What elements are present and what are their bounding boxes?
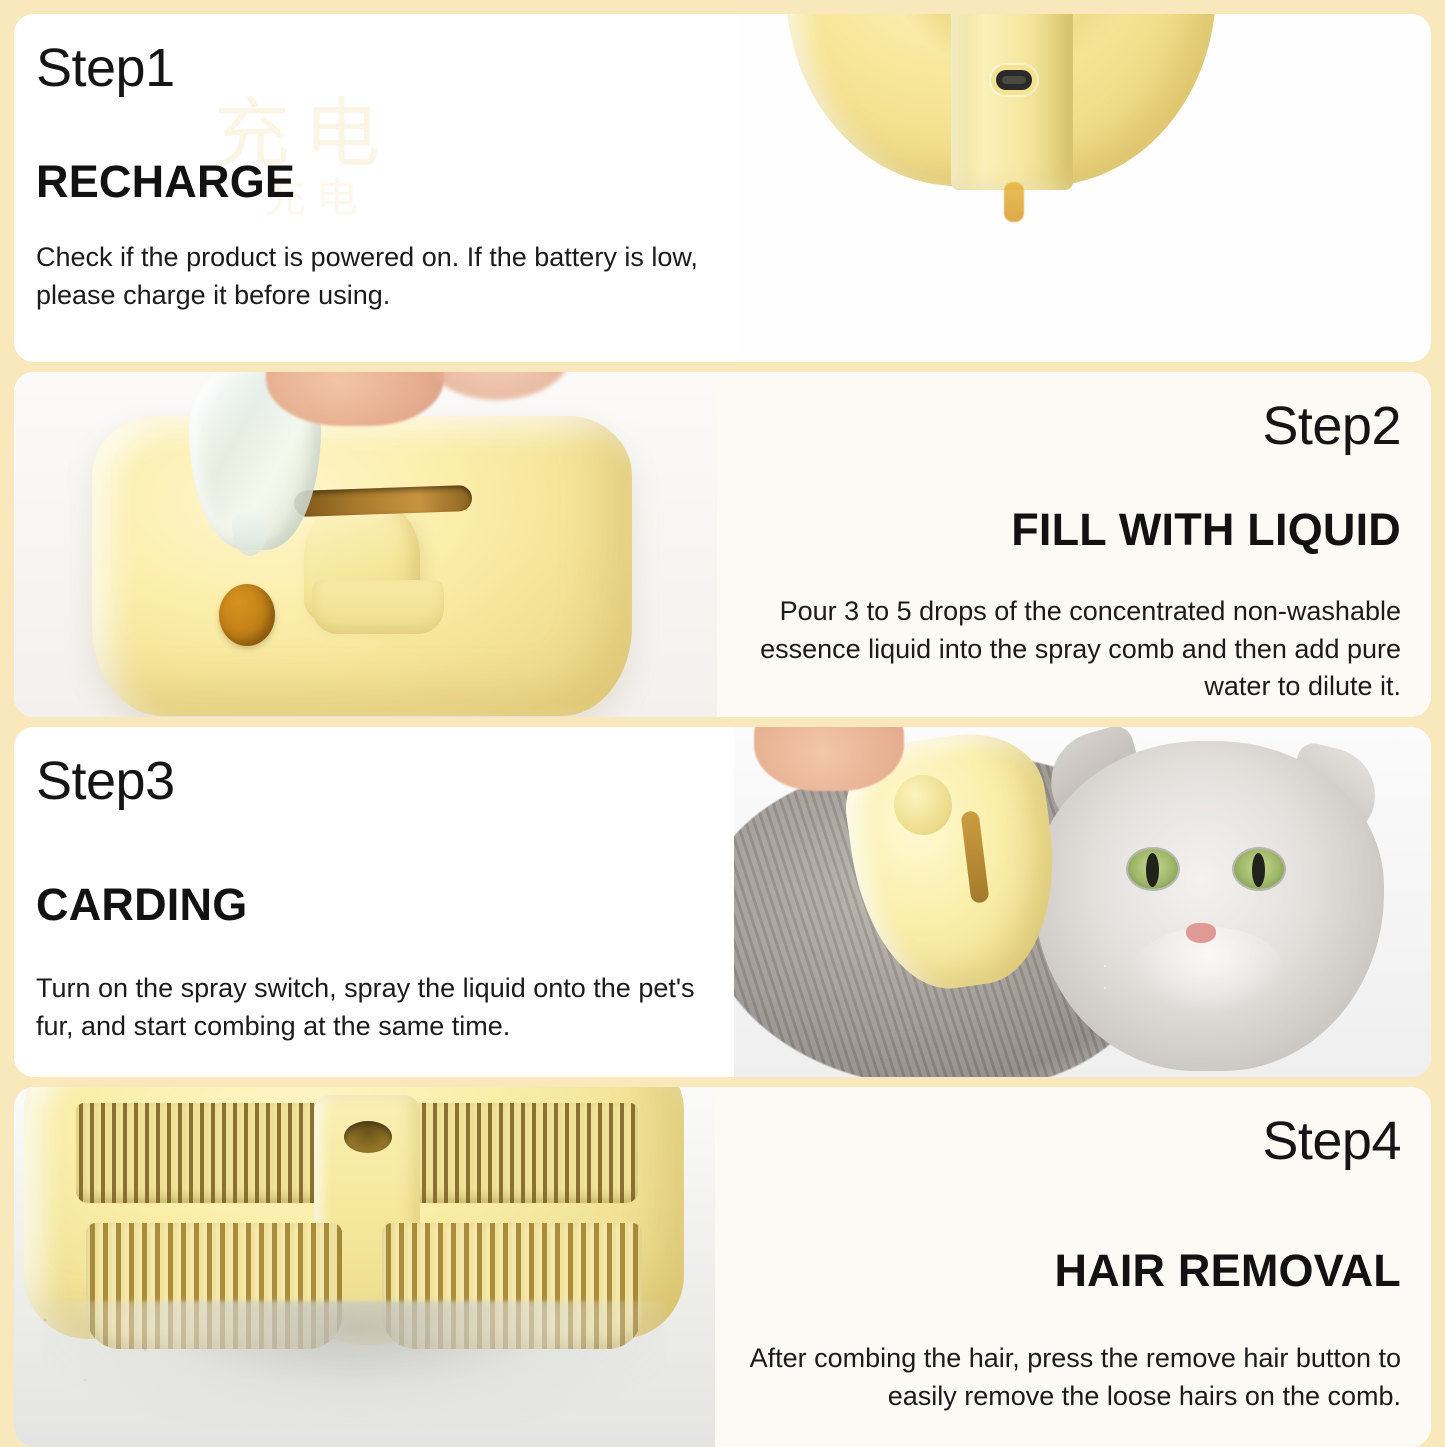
step-2-text-panel: Step2 FILL WITH LIQUID Pour 3 to 5 drops… — [717, 372, 1431, 717]
step-1-body: Check if the product is powered on. If t… — [36, 239, 708, 314]
comb-bristles-top-right — [386, 1103, 638, 1203]
cat-nose — [1186, 923, 1216, 943]
step-1-label: Step1 — [36, 40, 175, 96]
spray-button-icon — [219, 584, 275, 646]
comb-lower-recess — [312, 580, 444, 634]
step-4-photo — [14, 1087, 715, 1447]
step-1-text-panel: 充电 充电 Step1 RECHARGE Check if the produc… — [14, 14, 738, 362]
step-row-3: Step3 CARDING Turn on the spray switch, … — [14, 727, 1431, 1077]
step-3-text-panel: Step3 CARDING Turn on the spray switch, … — [14, 727, 734, 1077]
cat-pupil-right — [1252, 853, 1265, 887]
step-3-body: Turn on the spray switch, spray the liqu… — [36, 970, 704, 1045]
step-4-body: After combing the hair, press the remove… — [741, 1340, 1401, 1415]
step-2-label: Step2 — [1262, 398, 1401, 454]
step-2-body: Pour 3 to 5 drops of the concentrated no… — [739, 593, 1401, 705]
comb-center-hole — [344, 1121, 392, 1153]
cat-pupil-left — [1146, 853, 1159, 887]
step-2-title: FILL WITH LIQUID — [1011, 506, 1401, 553]
step-row-1: 充电 充电 Step1 RECHARGE Check if the produc… — [14, 14, 1431, 362]
loose-hair-strands — [24, 1309, 664, 1419]
step-4-title: HAIR REMOVAL — [1054, 1247, 1401, 1294]
step-3-photo — [734, 727, 1431, 1077]
step-3-title: CARDING — [36, 881, 247, 928]
step-3-label: Step3 — [36, 753, 175, 809]
step-1-title: RECHARGE — [36, 158, 295, 205]
comb-bristles-top-left — [76, 1103, 326, 1203]
cat-whiskers — [1104, 955, 1334, 1031]
step-4-text-panel: Step4 HAIR REMOVAL After combing the hai… — [715, 1087, 1431, 1447]
comb-handle — [951, 14, 1073, 190]
step-row-2: Step2 FILL WITH LIQUID Pour 3 to 5 drops… — [14, 372, 1431, 717]
step-4-label: Step4 — [1262, 1113, 1401, 1169]
instruction-infographic: 充电 充电 Step1 RECHARGE Check if the produc… — [0, 0, 1445, 1445]
step-2-photo — [14, 372, 717, 717]
step-row-4: Step4 HAIR REMOVAL After combing the hai… — [14, 1087, 1431, 1447]
step-1-photo — [738, 14, 1429, 362]
usb-c-port-inner — [1002, 76, 1026, 84]
handle-indicator-slot — [1004, 182, 1024, 222]
